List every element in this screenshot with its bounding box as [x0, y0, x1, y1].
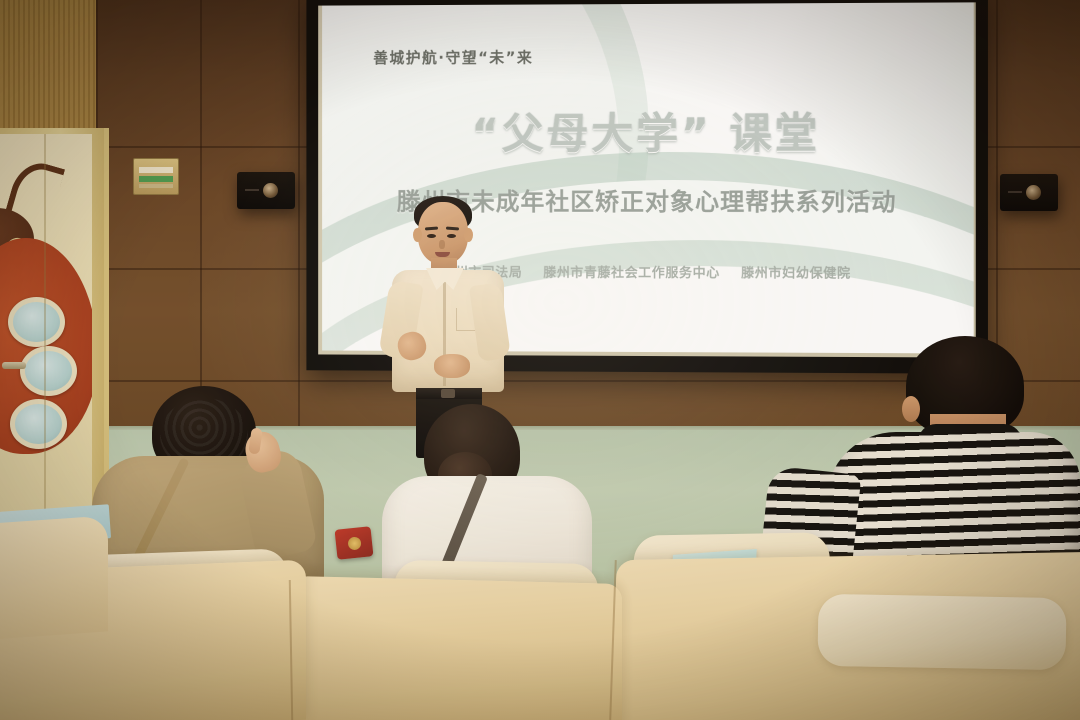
- wall-speaker-right: [1000, 174, 1058, 211]
- control-panel-slot: [139, 167, 173, 173]
- ladybug-door[interactable]: [0, 134, 92, 526]
- speaker-vent-icon: [1008, 191, 1022, 193]
- sofa-cushion: [817, 594, 1066, 670]
- presenter-belt-buckle: [441, 389, 455, 398]
- door-porthole-window: [8, 297, 65, 347]
- presenter-eye: [427, 234, 436, 238]
- speaker-vent-icon: [245, 189, 259, 191]
- presenter-eye: [447, 234, 456, 238]
- red-phone[interactable]: [335, 526, 374, 560]
- speaker-cone-icon: [263, 183, 278, 198]
- door-seam: [44, 134, 46, 526]
- presenter-nose: [439, 240, 445, 249]
- slide-organization-item: 滕州市青藤社会工作服务中心: [543, 266, 720, 281]
- presenter-hand-right: [434, 354, 470, 378]
- presenter-ear: [413, 228, 422, 242]
- photo-scene: 善城护航·守望“未”来 “父母大学” 课堂 滕州市未成年社区矫正对象心理帮扶系列…: [0, 0, 1080, 720]
- sofa-left-armrest: [0, 515, 108, 640]
- door-porthole-window: [10, 399, 67, 449]
- presenter-ear: [464, 228, 473, 242]
- control-panel-slot: [139, 184, 173, 188]
- sofa-center: [292, 576, 622, 720]
- control-panel-indicator: [139, 176, 173, 182]
- slide-tagline: 善城护航·守望“未”来: [373, 46, 533, 67]
- door-porthole-window: [20, 346, 77, 396]
- slide-title: “父母大学” 课堂: [322, 99, 974, 161]
- slide-organization-item: 滕州市妇幼保健院: [741, 266, 851, 281]
- audience-right-man-ear: [902, 396, 920, 422]
- speaker-cone-icon: [1026, 185, 1041, 200]
- wall-speaker-left: [237, 172, 295, 209]
- wall-control-panel[interactable]: [133, 158, 179, 195]
- door-handle[interactable]: [2, 362, 26, 369]
- phone-camera-icon: [347, 536, 361, 550]
